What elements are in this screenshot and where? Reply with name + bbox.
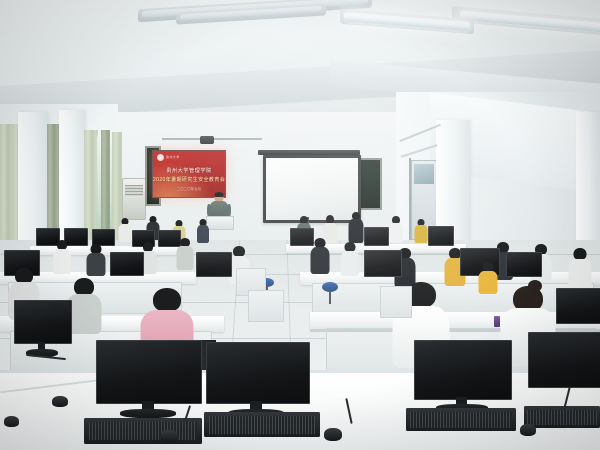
keyboard-fg-1-keys: [89, 422, 198, 440]
student-far-9: [414, 219, 428, 244]
door-window: [414, 164, 434, 184]
lecture-podium: [206, 216, 234, 230]
monitor-far-7-screen: [364, 227, 389, 246]
keyboard-fg-2[interactable]: [204, 412, 320, 437]
student-far-1: [118, 218, 132, 244]
mouse-fg-5[interactable]: [4, 416, 19, 427]
monitor-mid-4-screen: [364, 250, 402, 277]
student-far-7-torso: [349, 219, 364, 243]
student-mid-7-torso: [341, 251, 360, 276]
door-frame-accent: [409, 158, 411, 240]
monitor-fg-4-screen: [414, 340, 512, 400]
monitor-fg-2-screen: [96, 340, 202, 404]
mobile-phone: [494, 316, 500, 327]
stool-1-leg: [329, 291, 331, 304]
slide-line-2: 2020年暑期研究生安全教育会: [153, 176, 225, 183]
student-mid-12-torso: [569, 259, 592, 288]
monitor-fg-2-base: [120, 409, 176, 418]
student-far-7: [348, 212, 364, 244]
mouse-fg-2[interactable]: [160, 430, 178, 443]
keyboard-fg-2-keys: [209, 416, 316, 434]
keyboard-fg-3[interactable]: [406, 408, 516, 431]
student-near-6: [478, 262, 498, 294]
student-far-8: [388, 216, 403, 244]
monitor-mid-2-screen: [110, 252, 144, 276]
student-far-4-torso: [197, 225, 209, 243]
student-mid-2-torso: [87, 253, 106, 276]
monitor-fg-6: [556, 288, 600, 322]
student-mid-4: [176, 238, 194, 270]
student-far-4: [196, 219, 209, 244]
student-far-1-torso: [119, 224, 132, 242]
student-far-9-torso: [415, 225, 428, 243]
monitor-far-8-screen: [428, 226, 454, 246]
monitor-fg-4: [414, 340, 510, 398]
slide-line-1: 贵州大学管理学院: [153, 167, 225, 174]
monitor-fg-5-screen: [528, 332, 600, 388]
monitor-fg-2: [96, 340, 200, 402]
slide-logo-label: 贵州大学: [166, 155, 180, 159]
monitor-mid-4: [364, 250, 400, 275]
monitor-fg-1: [14, 300, 70, 342]
student-near-6-torso: [479, 271, 498, 294]
air-conditioner-left-vent: [125, 185, 143, 195]
monitor-mid-3: [196, 252, 230, 275]
keyboard-fg-4[interactable]: [524, 406, 600, 428]
pull-down-projection-screen: [263, 155, 361, 223]
monitor-mid-2: [110, 252, 142, 274]
monitor-fg-3-screen: [206, 342, 310, 404]
mouse-fg-3[interactable]: [324, 428, 342, 441]
desk-side-panel-3: [380, 286, 412, 318]
slide-line-3: 二〇二〇年九月: [153, 186, 225, 191]
keyboard-fg-4-keys: [527, 410, 597, 425]
student-mid-1-torso: [53, 249, 71, 274]
monitor-far-8: [428, 226, 452, 244]
keyboard-fg-3-keys: [410, 412, 511, 428]
monitor-mid-6-screen: [506, 252, 542, 277]
monitor-fg-5: [528, 332, 600, 386]
classroom-photo: 贵州大学 贵州大学管理学院 2020年暑期研究生安全教育会 二〇二〇年九月: [0, 0, 600, 450]
monitor-fg-3: [206, 342, 308, 402]
mouse-fg-1[interactable]: [52, 396, 68, 407]
student-mid-7: [340, 242, 360, 276]
student-mid-1: [52, 240, 71, 274]
monitor-far-6: [290, 228, 312, 244]
monitor-far-3: [92, 229, 113, 244]
monitor-mid-3-screen: [196, 252, 232, 277]
student-far-8-torso: [389, 223, 403, 243]
student-near-3-hair: [153, 288, 181, 312]
air-conditioner-left: [122, 178, 146, 220]
monitor-fg-1-screen: [14, 300, 72, 344]
student-mid-12: [568, 248, 592, 288]
student-mid-6-torso: [311, 247, 330, 274]
monitor-fg-6-screen: [556, 288, 600, 324]
student-mid-6: [310, 238, 330, 274]
stool-1: [322, 282, 338, 304]
university-logo-icon: [157, 154, 164, 161]
mouse-fg-4[interactable]: [520, 424, 536, 436]
monitor-mid-6: [506, 252, 540, 275]
lecturer-hair: [215, 192, 224, 197]
desk-side-panel-2: [248, 290, 284, 322]
monitor-far-7: [364, 227, 387, 244]
student-mid-2: [86, 244, 106, 276]
student-mid-4-torso: [177, 246, 194, 270]
projected-title-slide: 贵州大学 贵州大学管理学院 2020年暑期研究生安全教育会 二〇二〇年九月: [152, 150, 226, 198]
ceiling-projector-icon: [200, 136, 214, 144]
